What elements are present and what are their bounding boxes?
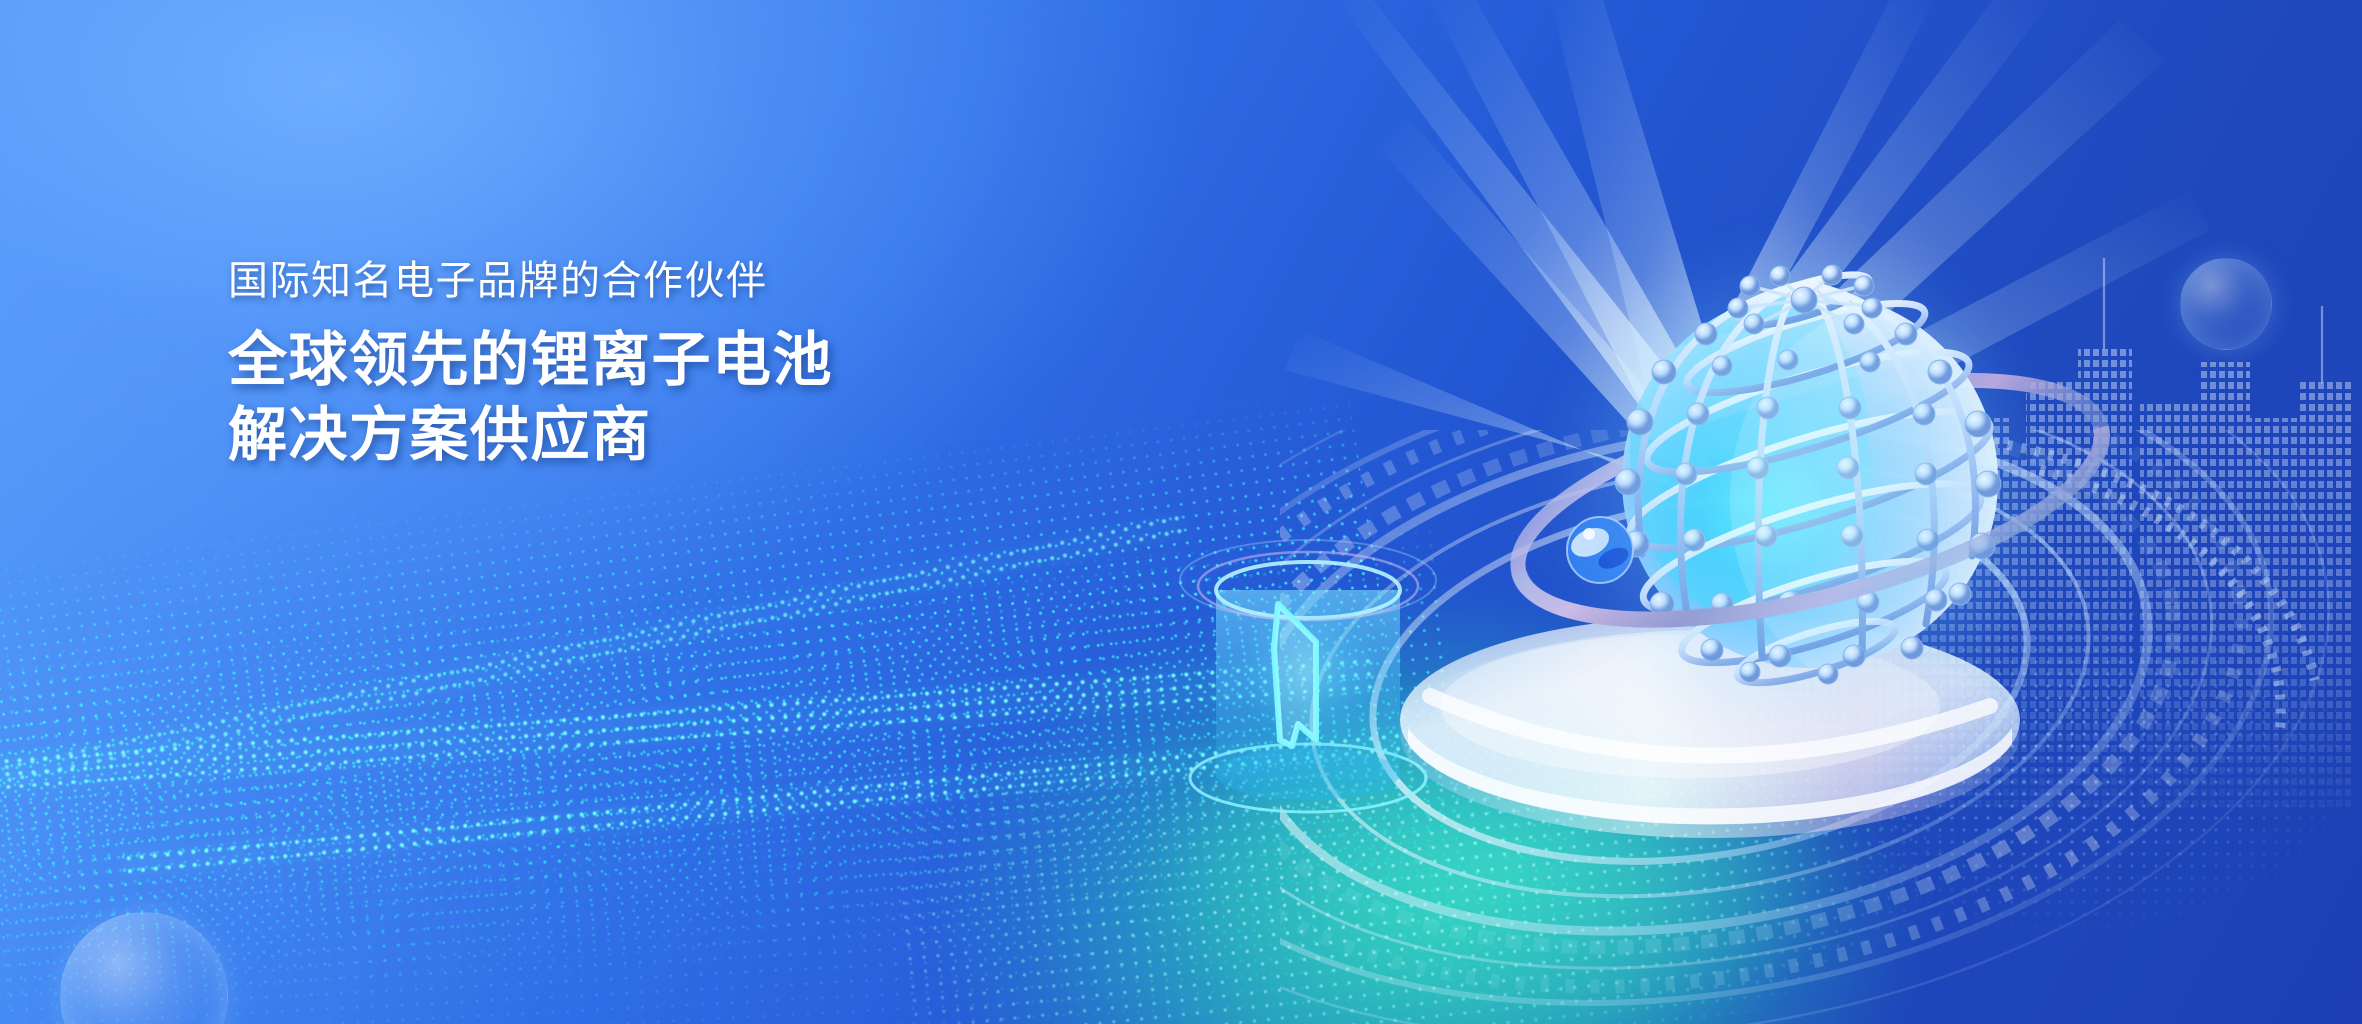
upward-arrow-portal [1130,530,1490,820]
wireframe-globe [1450,200,2210,760]
bubble-bottom-left [60,912,228,1024]
banner-subtitle: 国际知名电子品牌的合作伙伴 [228,258,1048,305]
title-line-2: 解决方案供应商 [228,398,1048,472]
page-title: 全球领先的锂离子电池 解决方案供应商 [228,323,1048,472]
globe-halo [1540,230,2060,750]
title-line-1: 全球领先的锂离子电池 [228,323,1048,397]
bubble-top-right [2180,258,2272,350]
hero-banner: 国际知名电子品牌的合作伙伴 全球领先的锂离子电池 解决方案供应商 [0,0,2362,1024]
banner-text-block: 国际知名电子品牌的合作伙伴 全球领先的锂离子电池 解决方案供应商 [228,258,1048,472]
dot-crest-upper [0,510,1189,795]
